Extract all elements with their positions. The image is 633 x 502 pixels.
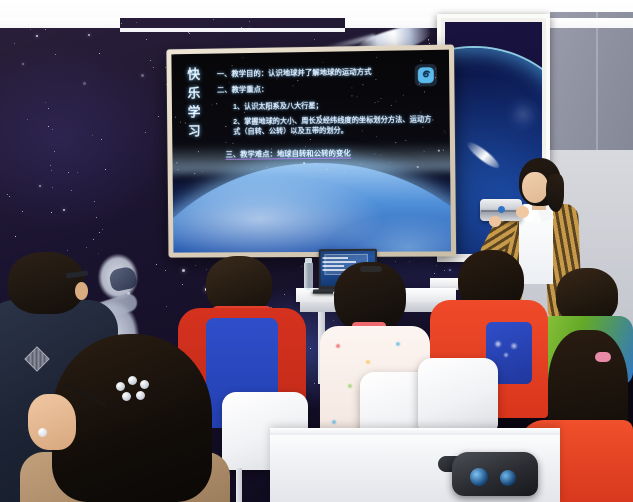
adult-man-left-head [8, 252, 84, 314]
screenshot-scene: 快 乐 学 习 一、教学目的：认识地球并了解地球的运动方式 二、教学重点： 1、… [0, 0, 633, 502]
hair-clip [360, 266, 382, 272]
laptop-list-row [323, 257, 348, 259]
slide-line-2: 二、教学重点： [217, 82, 441, 94]
vr-headset[interactable] [452, 452, 538, 496]
slide-body-text: 一、教学目的：认识地球并了解地球的运动方式 二、教学重点： 1、认识太阳系及八大… [217, 66, 442, 161]
adult-man-ear [75, 282, 88, 300]
teacher-face [522, 172, 548, 203]
swirl-galaxy-logo-icon [415, 64, 438, 86]
backpack-print [492, 338, 526, 360]
motto-char-4: 习 [188, 124, 214, 137]
pearl-clip-bead [136, 391, 145, 400]
front-desk-edge [270, 428, 560, 435]
wall-display[interactable]: 快 乐 学 习 一、教学目的：认识地球并了解地球的运动方式 二、教学重点： 1、… [166, 45, 456, 258]
woman-foreground-hand [28, 394, 76, 450]
water-bottle [304, 262, 313, 290]
finger-ring-icon [38, 428, 47, 437]
hair-tie [595, 352, 611, 362]
pearl-clip-bead [128, 376, 137, 385]
chair-leg [236, 468, 242, 502]
slide-starfield [171, 50, 449, 55]
slide-line-6: 三、教学难点：地球自转和公转的变化 [226, 148, 351, 160]
earth-background-graphic [171, 161, 451, 253]
pearl-clip-bead [140, 380, 149, 389]
white-shell-chair[interactable] [418, 358, 498, 432]
motto-char-1: 快 [187, 68, 213, 81]
vr-lens-left-icon [470, 468, 488, 486]
device-indicator-icon [498, 206, 505, 213]
pearl-clip-bead [116, 382, 125, 391]
slide-vertical-motto: 快 乐 学 习 [187, 68, 213, 138]
laptop-list-row [323, 261, 356, 263]
teacher-hair-side [546, 174, 564, 212]
teacher-hand-right [516, 206, 529, 218]
slide-line-4: 2、掌握地球的大小、周长及经纬线度的坐标划分方法、运动方 [233, 114, 441, 126]
pearl-clip-bead [122, 392, 131, 401]
slide-line-1: 一、教学目的：认识地球并了解地球的运动方式 [217, 66, 441, 79]
display-screen[interactable]: 快 乐 学 习 一、教学目的：认识地球并了解地球的运动方式 二、教学重点： 1、… [171, 50, 451, 253]
motto-char-3: 学 [188, 105, 214, 118]
slide-line-3: 1、认识太阳系及八大行星； [233, 99, 441, 111]
vr-lens-right-icon [500, 470, 516, 486]
motto-char-2: 乐 [187, 86, 213, 99]
woman-foreground-hair [52, 334, 212, 502]
slide-line-5: 式（自转、公转）以及五带的划分。 [233, 124, 441, 135]
teacher-hand-left [489, 216, 501, 227]
laptop-list-row [323, 265, 344, 267]
